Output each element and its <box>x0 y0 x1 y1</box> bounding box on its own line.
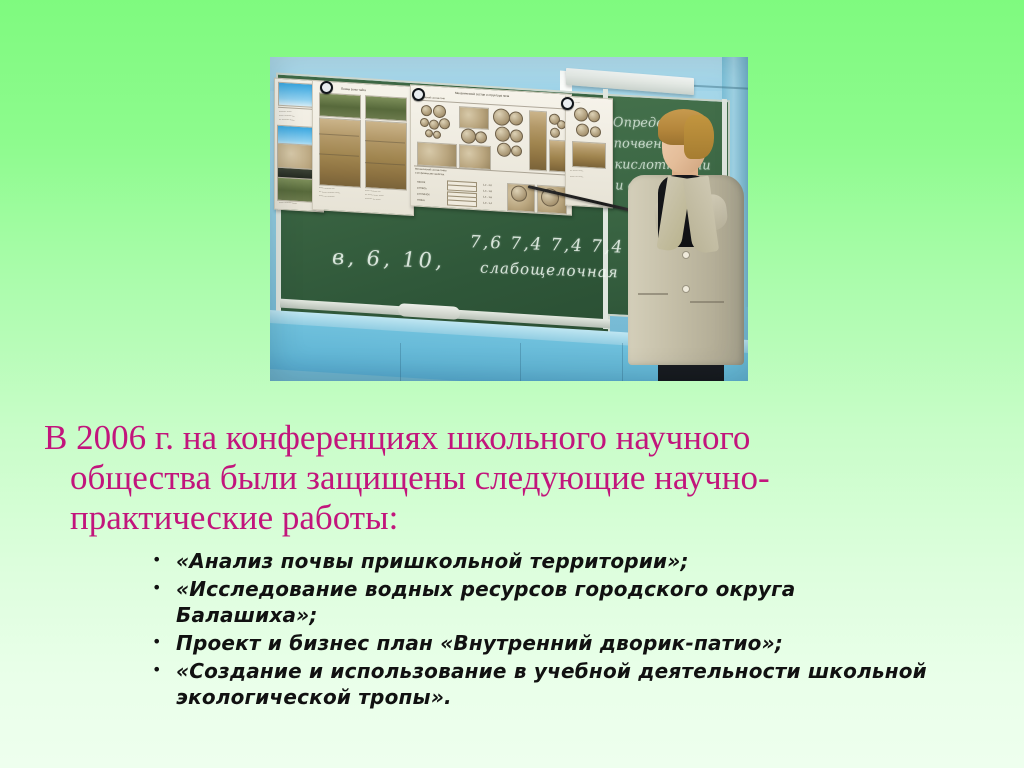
poster-clip-left <box>320 81 333 94</box>
list-item: «Анализ почвы пришкольной территории»; <box>148 548 928 574</box>
list-item: «Создание и использование в учебной деят… <box>148 658 928 710</box>
poster-clip-mid <box>412 88 425 101</box>
jacket-button-bottom <box>682 285 690 293</box>
poster-sheet-soil-composition: Механический состав и структура почв Мех… <box>410 84 572 216</box>
poster-clip-right <box>561 97 574 110</box>
jacket-pocket-right <box>690 301 724 303</box>
heading-line-2: общества были защищены следующие научно- <box>44 458 944 498</box>
poster-sheet-soil-profiles: Почвы зоны тайги —— ——— — — —— ——— —— ——… <box>312 80 414 216</box>
classroom-photo: Определение почвенной кислотности и оцен… <box>270 57 748 381</box>
slide-heading: В 2006 г. на конференциях школьного науч… <box>44 418 944 538</box>
heading-line-1: В 2006 г. на конференциях школьного науч… <box>44 418 750 457</box>
wainscot-seam-2 <box>520 343 521 381</box>
jacket-button-top <box>682 251 690 259</box>
poster-sheet-right: —— —— — —— —— —— — —— <box>565 96 613 209</box>
list-item: Проект и бизнес план «Внутренний дворик-… <box>148 630 928 656</box>
jacket-pocket-left <box>638 293 668 295</box>
chalk-row-1: в, 6, 10, <box>332 245 445 273</box>
wainscot-seam-3 <box>622 343 623 381</box>
wainscot-seam-1 <box>400 343 401 381</box>
student-hair-back <box>684 115 714 159</box>
heading-line-3: практические работы: <box>44 498 944 538</box>
poster-title: Механический состав и структура почв <box>455 91 509 98</box>
list-item: «Исследование водных ресурсов городского… <box>148 576 928 628</box>
works-list: «Анализ почвы пришкольной территории»; «… <box>148 548 928 712</box>
